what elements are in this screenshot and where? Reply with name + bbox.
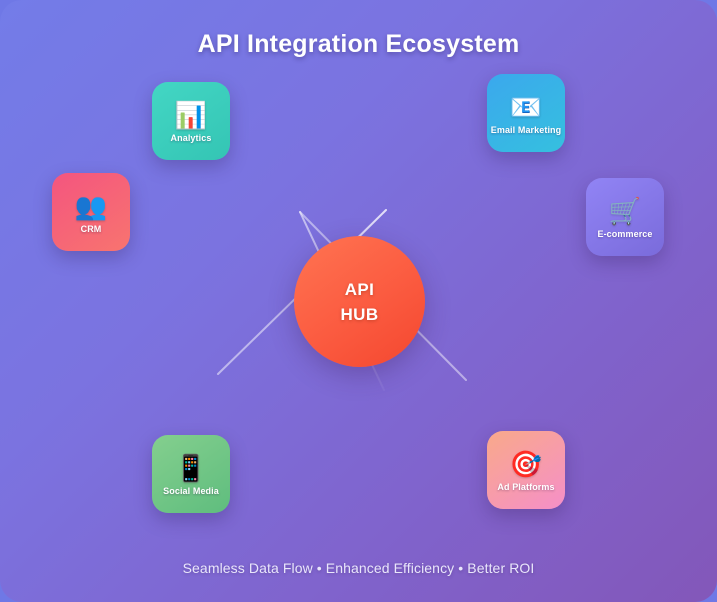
service-card-social-media[interactable]: 📱 Social Media xyxy=(152,435,230,513)
service-card-label: Ad Platforms xyxy=(497,482,554,492)
service-card-ecommerce[interactable]: 🛒 E-commerce xyxy=(586,178,664,256)
service-card-label: CRM xyxy=(81,224,102,234)
mobile-phone-icon: 📱 xyxy=(175,453,207,483)
api-hub-node[interactable]: API HUB xyxy=(294,236,425,367)
page-title: API Integration Ecosystem xyxy=(0,30,717,59)
hub-title-line1: API xyxy=(345,277,375,302)
footer-tagline: Seamless Data Flow • Enhanced Efficiency… xyxy=(0,560,717,576)
service-card-crm[interactable]: 👥 CRM xyxy=(52,173,130,251)
service-card-label: E-commerce xyxy=(597,229,652,239)
service-card-email-marketing[interactable]: 📧 Email Marketing xyxy=(487,74,565,152)
service-card-label: Email Marketing xyxy=(491,125,562,135)
service-card-ad-platforms[interactable]: 🎯 Ad Platforms xyxy=(487,431,565,509)
service-card-label: Analytics xyxy=(171,133,212,143)
service-card-label: Social Media xyxy=(163,486,219,496)
people-icon: 👥 xyxy=(75,191,107,221)
bar-chart-icon: 📊 xyxy=(175,100,207,130)
target-icon: 🎯 xyxy=(510,449,542,479)
hub-title-line2: HUB xyxy=(340,302,378,327)
service-card-analytics[interactable]: 📊 Analytics xyxy=(152,82,230,160)
diagram-canvas: API Integration Ecosystem xyxy=(0,0,717,602)
shopping-cart-icon: 🛒 xyxy=(609,196,641,226)
email-icon: 📧 xyxy=(510,92,542,122)
